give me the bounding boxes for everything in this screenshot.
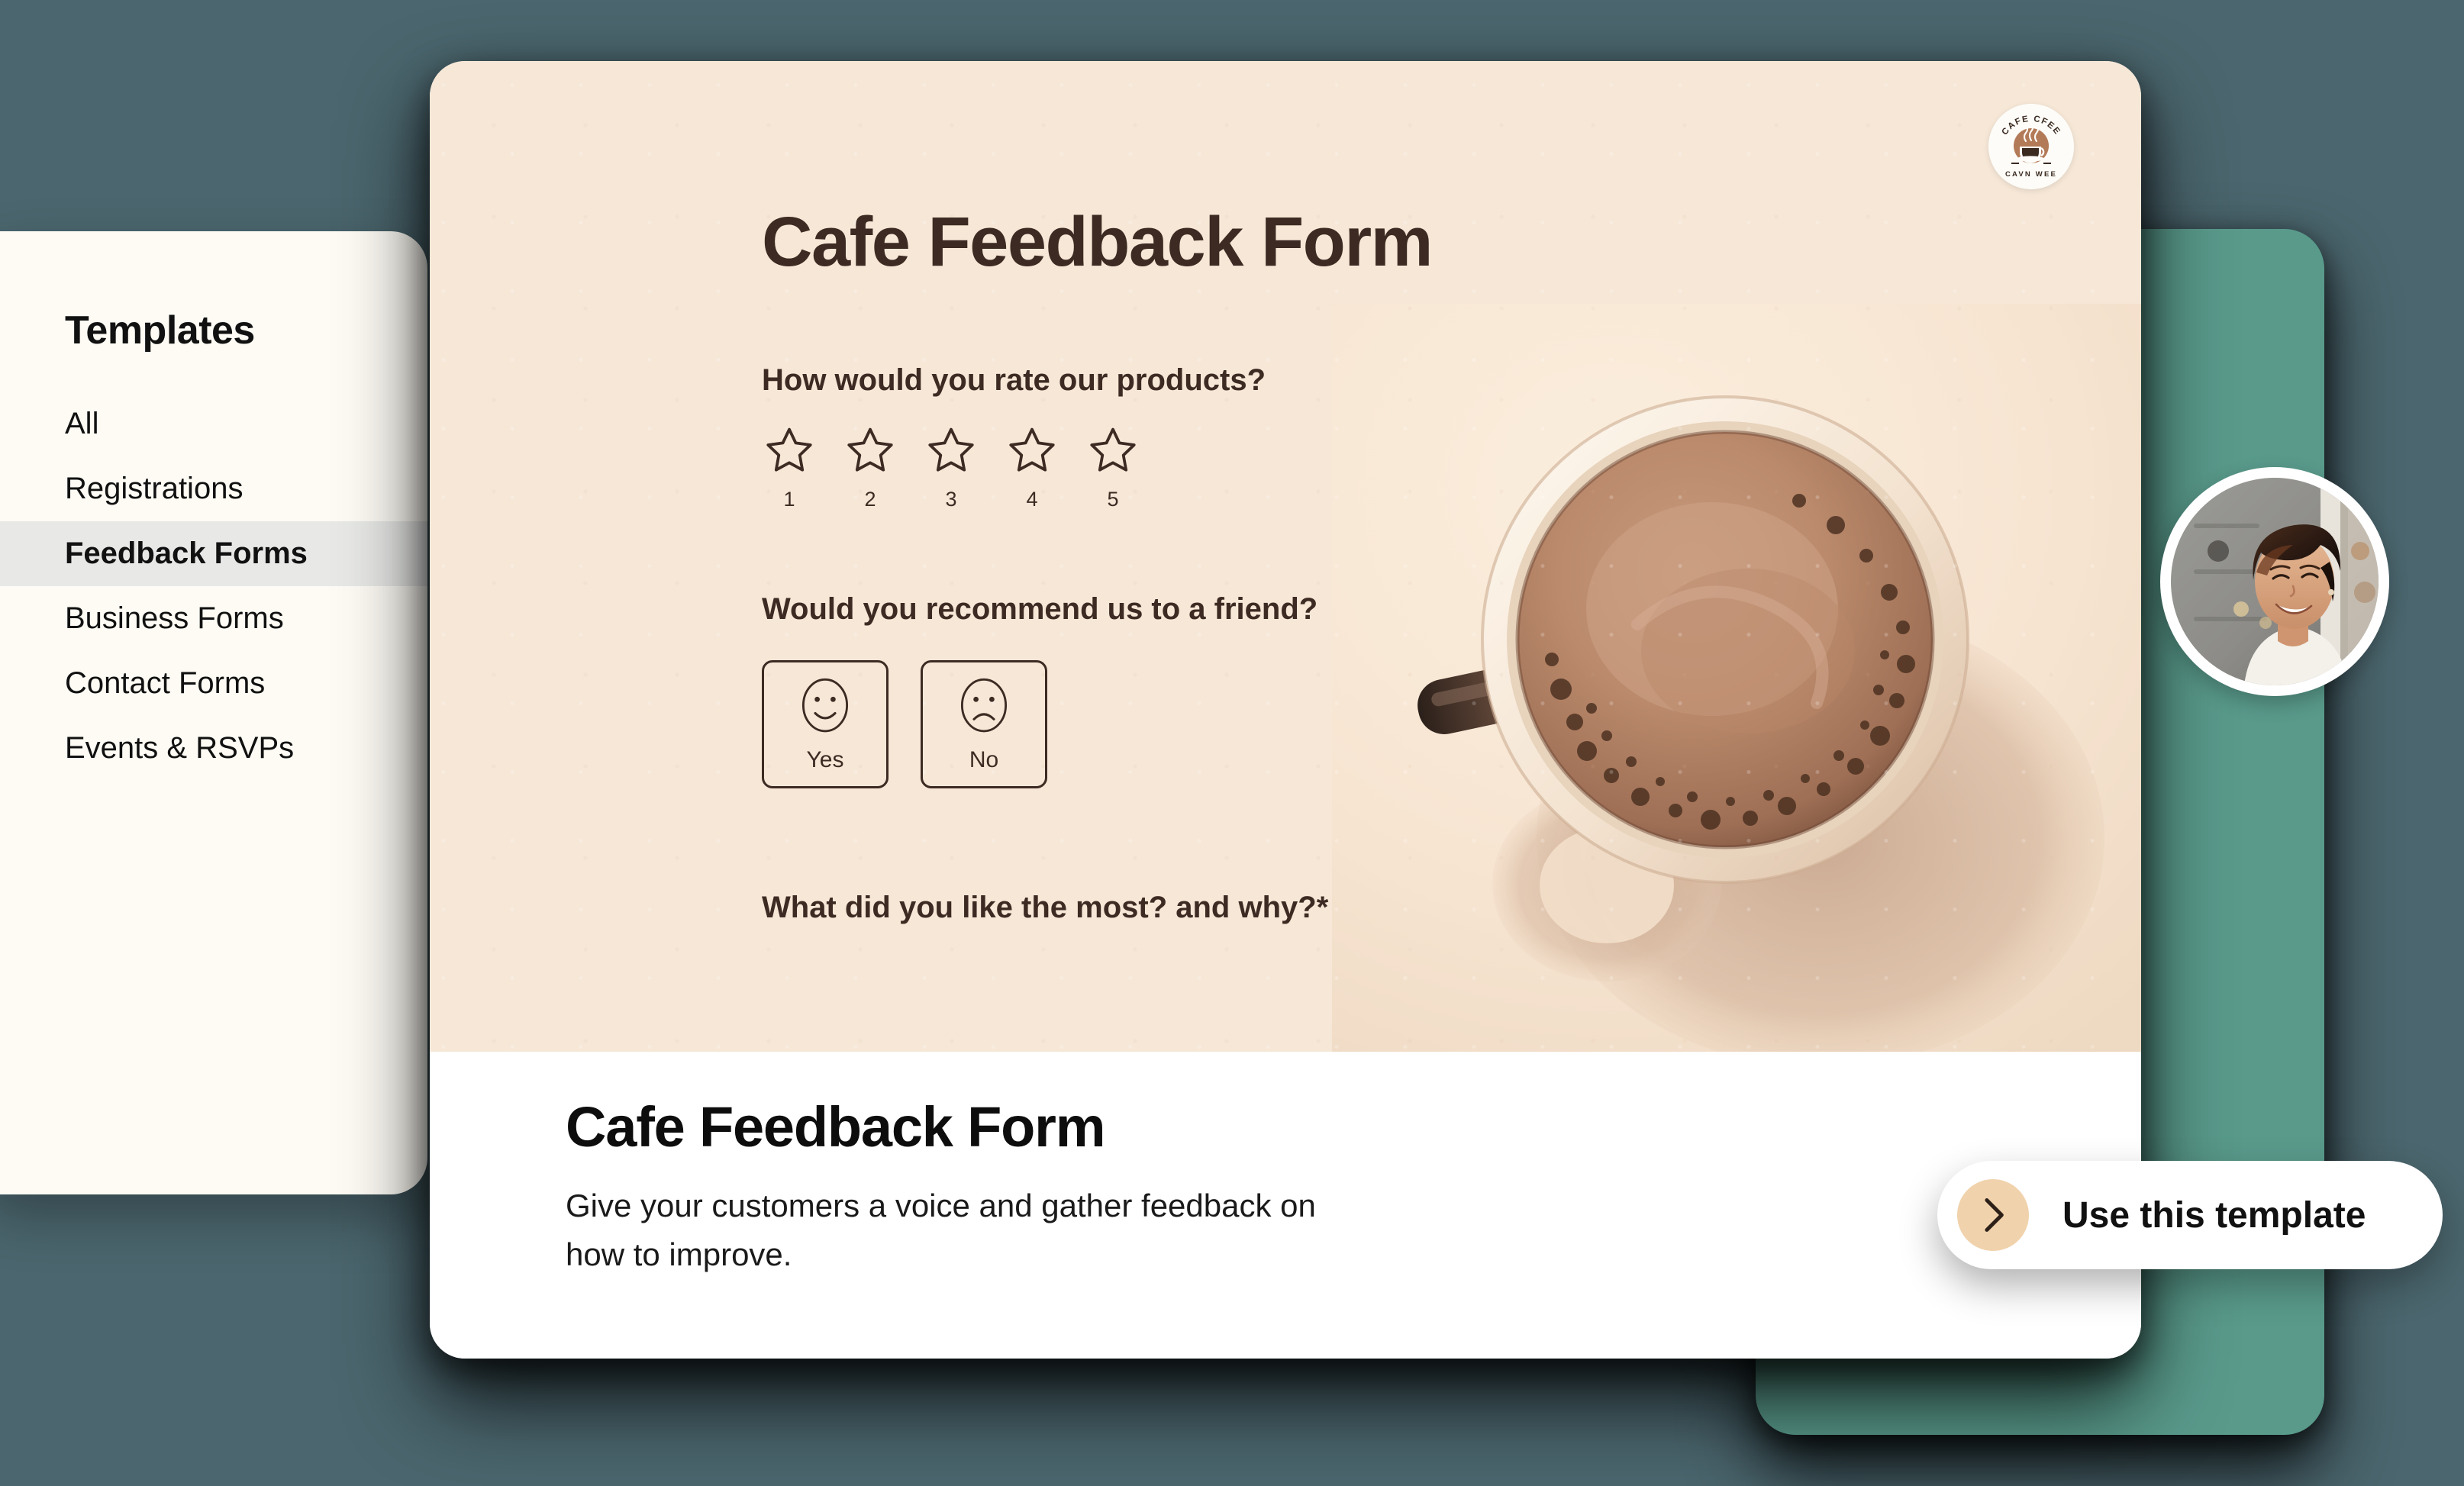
form-title: Cafe Feedback Form <box>762 202 2141 282</box>
avatar-image <box>2171 478 2379 685</box>
star-number-2: 2 <box>843 488 898 511</box>
star-option-2[interactable]: 2 <box>843 424 898 511</box>
footer-template-description: Give your customers a voice and gather f… <box>566 1181 1344 1279</box>
star-option-5[interactable]: 5 <box>1085 424 1140 511</box>
recommend-option-no[interactable]: No <box>921 660 1047 788</box>
star-number-5: 5 <box>1085 488 1140 511</box>
templates-sidebar: Templates All Registrations Feedback For… <box>0 231 427 1194</box>
star-icon <box>1005 424 1059 477</box>
star-icon <box>762 424 817 477</box>
template-preview-card[interactable]: CAFE CFEE CAVN WEE <box>430 61 2141 1359</box>
sidebar-title: Templates <box>65 308 255 353</box>
smiley-face-icon <box>795 675 855 741</box>
svg-text:CAVN WEE: CAVN WEE <box>2005 170 2057 179</box>
sidebar-item-events-rsvps[interactable]: Events & RSVPs <box>0 716 427 781</box>
star-number-1: 1 <box>762 488 817 511</box>
star-option-4[interactable]: 4 <box>1005 424 1059 511</box>
sidebar-item-registrations[interactable]: Registrations <box>0 456 427 521</box>
recommend-choice-group[interactable]: Yes No <box>762 660 2141 788</box>
sidebar-nav: All Registrations Feedback Forms Busines… <box>0 392 427 781</box>
chevron-right-icon <box>1957 1179 2029 1251</box>
question-label-recommend: Would you recommend us to a friend? <box>762 592 2141 627</box>
recommend-option-no-label: No <box>969 747 998 773</box>
star-rating-group[interactable]: 1 2 3 4 5 <box>762 424 2141 511</box>
screenshot-stage: Templates All Registrations Feedback For… <box>0 0 2464 1486</box>
frowny-face-icon <box>954 675 1014 741</box>
use-this-template-button[interactable]: Use this template <box>1937 1161 2443 1269</box>
star-option-1[interactable]: 1 <box>762 424 817 511</box>
sidebar-item-all[interactable]: All <box>0 392 427 456</box>
star-icon <box>1085 424 1140 477</box>
star-icon <box>924 424 979 477</box>
footer-template-title: Cafe Feedback Form <box>566 1094 1105 1159</box>
star-icon <box>843 424 898 477</box>
star-option-3[interactable]: 3 <box>924 424 979 511</box>
form-preview-area: CAFE CFEE CAVN WEE <box>430 61 2141 1052</box>
use-this-template-label: Use this template <box>2062 1194 2366 1236</box>
sidebar-item-contact-forms[interactable]: Contact Forms <box>0 651 427 716</box>
sidebar-item-feedback-forms[interactable]: Feedback Forms <box>0 521 427 586</box>
question-label-open-text: What did you like the most? and why?* <box>762 891 2141 925</box>
recommend-option-yes-label: Yes <box>807 747 844 773</box>
form-body: Cafe Feedback Form How would you rate ou… <box>430 61 2141 925</box>
star-number-3: 3 <box>924 488 979 511</box>
question-label-rating: How would you rate our products? <box>762 363 2141 398</box>
recommend-option-yes[interactable]: Yes <box>762 660 889 788</box>
sidebar-item-business-forms[interactable]: Business Forms <box>0 586 427 651</box>
cafe-logo-badge: CAFE CFEE CAVN WEE <box>1988 104 2074 189</box>
template-footer: Cafe Feedback Form Give your customers a… <box>430 1052 2141 1359</box>
star-number-4: 4 <box>1005 488 1059 511</box>
avatar <box>2160 467 2389 696</box>
